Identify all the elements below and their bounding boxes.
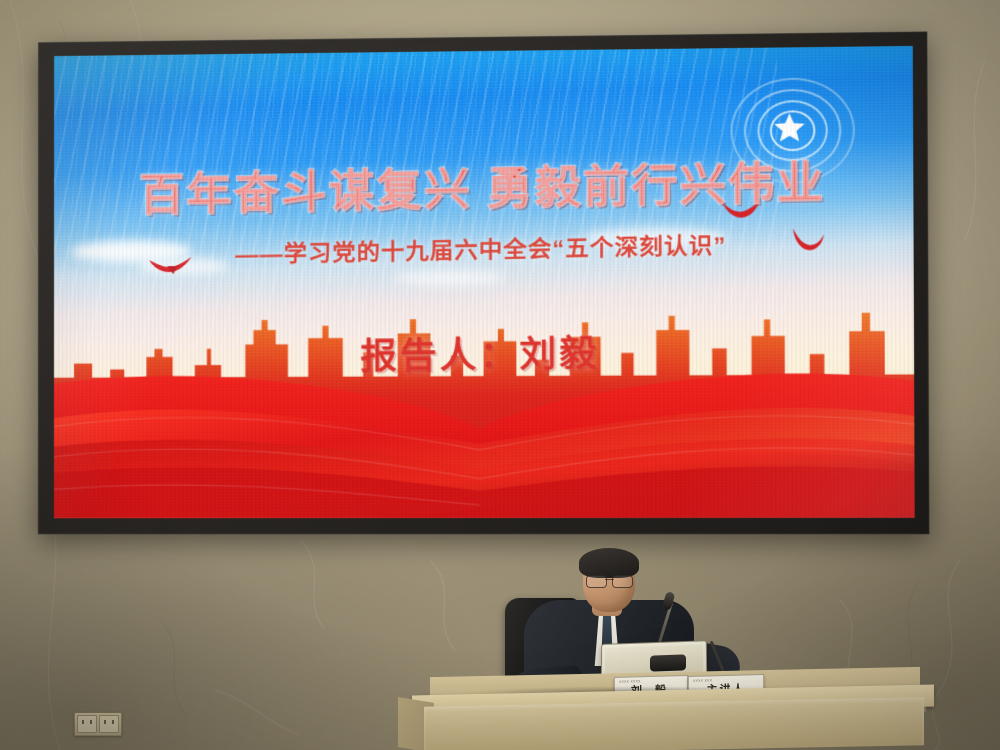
photograph-scene: 百年奋斗谋复兴 勇毅前行兴伟业 ——学习党的十九届六中全会“五个深刻认识” 报告… (0, 0, 1000, 750)
power-outlet-icon (74, 712, 122, 736)
speaker-hair (579, 548, 639, 578)
eyeglasses-icon (586, 575, 633, 586)
five-pointed-star-icon (772, 110, 807, 145)
slide-speaker-line: 报告人：刘毅 (54, 320, 914, 384)
outlet-socket (99, 715, 119, 733)
nameplate-fineprint: XXXX XXX (693, 678, 712, 683)
microphone-base (650, 654, 686, 671)
led-display-surface: 百年奋斗谋复兴 勇毅前行兴伟业 ——学习党的十九届六中全会“五个深刻认识” 报告… (54, 46, 915, 518)
led-display-frame: 百年奋斗谋复兴 勇毅前行兴伟业 ——学习党的十九届六中全会“五个深刻认识” 报告… (38, 32, 929, 535)
nameplate-fineprint: XXXX XXXX (619, 679, 641, 684)
glasses-lens (586, 575, 607, 588)
outlet-socket (77, 715, 97, 733)
lectern-front-panel (424, 697, 924, 750)
glasses-lens (612, 575, 633, 588)
